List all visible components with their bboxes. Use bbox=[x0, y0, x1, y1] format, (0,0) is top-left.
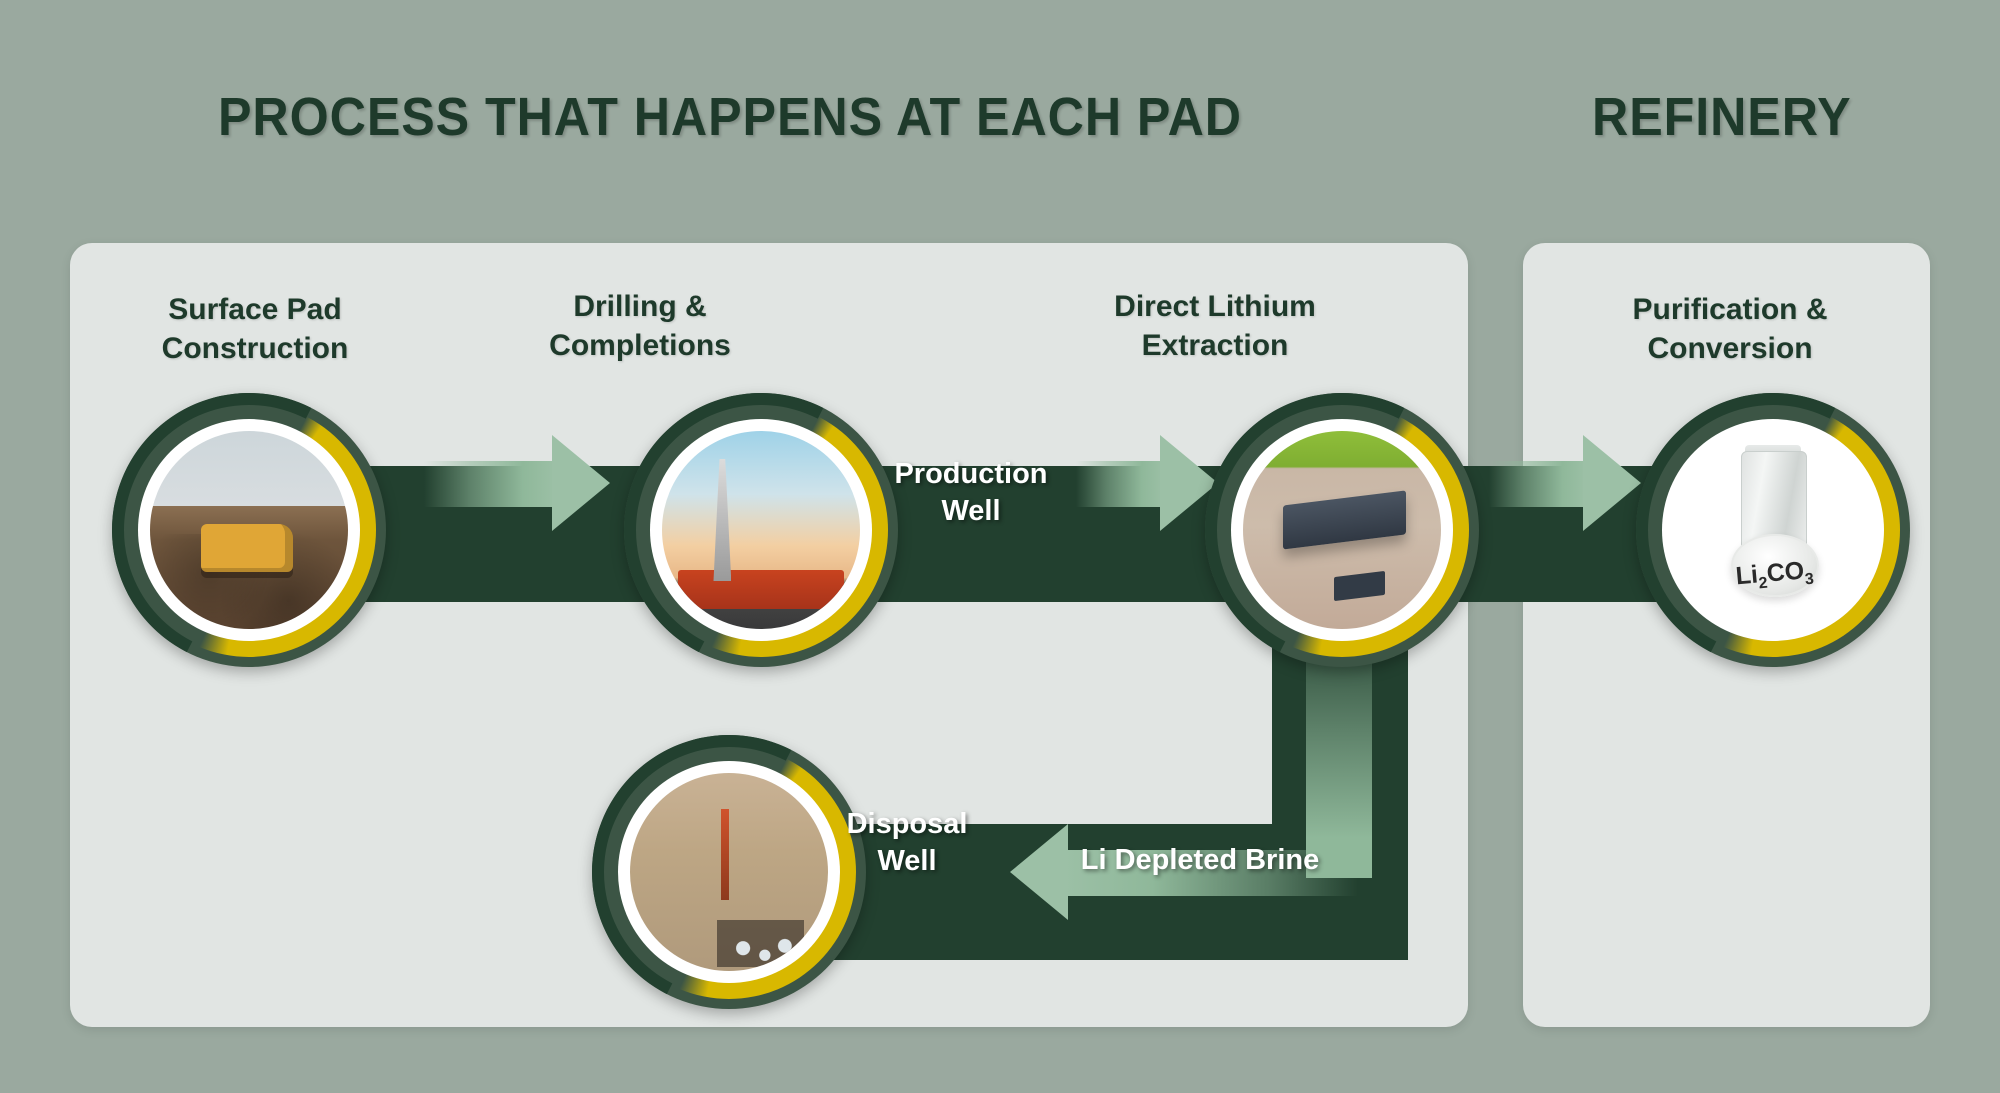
step-photo-lithium-carbonate-jar: Li2CO3 bbox=[1674, 431, 1872, 629]
node-photo-disposal-well bbox=[630, 773, 828, 971]
arrow-dle-to-refinery bbox=[1489, 435, 1641, 531]
step-badge-direct-lithium-extraction[interactable] bbox=[1205, 393, 1479, 667]
step-label-surface-pad-construction: Surface Pad Construction bbox=[95, 290, 415, 368]
arrow-pad-to-drilling bbox=[424, 435, 610, 531]
scene-dle-facility bbox=[1243, 431, 1441, 629]
arrow-head bbox=[1583, 435, 1641, 531]
flow-label-li-depleted-brine: Li Depleted Brine bbox=[1040, 842, 1360, 879]
scene-sample-jar: Li2CO3 bbox=[1674, 431, 1872, 629]
infographic-canvas: PROCESS THAT HAPPENS AT EACH PAD REFINER… bbox=[0, 0, 2000, 1093]
scene-drilling-rig bbox=[662, 431, 860, 629]
formula-li: Li bbox=[1735, 560, 1760, 590]
step-badge-purification-conversion[interactable]: Li2CO3 bbox=[1636, 393, 1910, 667]
arrow-shaft bbox=[1489, 461, 1587, 507]
flow-label-disposal-well: Disposal Well bbox=[812, 806, 1002, 880]
arrow-head bbox=[552, 435, 610, 531]
step-label-purification-conversion: Purification & Conversion bbox=[1560, 290, 1900, 368]
step-badge-surface-pad-construction[interactable] bbox=[112, 393, 386, 667]
page-title-refinery: REFINERY bbox=[1592, 86, 1851, 148]
arrow-shaft bbox=[424, 461, 556, 507]
arrow-drilling-to-dle bbox=[1076, 435, 1218, 531]
step-photo-dle-facility bbox=[1243, 431, 1441, 629]
step-photo-drilling-rig bbox=[662, 431, 860, 629]
page-title-process-pad: PROCESS THAT HAPPENS AT EACH PAD bbox=[218, 86, 1242, 148]
step-label-direct-lithium-extraction: Direct Lithium Extraction bbox=[1045, 287, 1385, 365]
arrow-shaft bbox=[1076, 461, 1164, 507]
jar-cap: Li2CO3 bbox=[1731, 534, 1818, 597]
formula-sub-3: 3 bbox=[1805, 570, 1815, 588]
step-label-drilling-completions: Drilling & Completions bbox=[475, 287, 805, 365]
step-photo-bulldozer bbox=[150, 431, 348, 629]
product-formula-label: Li2CO3 bbox=[1732, 555, 1818, 595]
scene-bulldozer bbox=[150, 431, 348, 629]
scene-disposal-well-aerial bbox=[630, 773, 828, 971]
flow-label-production-well: Production Well bbox=[856, 456, 1086, 530]
formula-co: CO bbox=[1766, 556, 1806, 587]
